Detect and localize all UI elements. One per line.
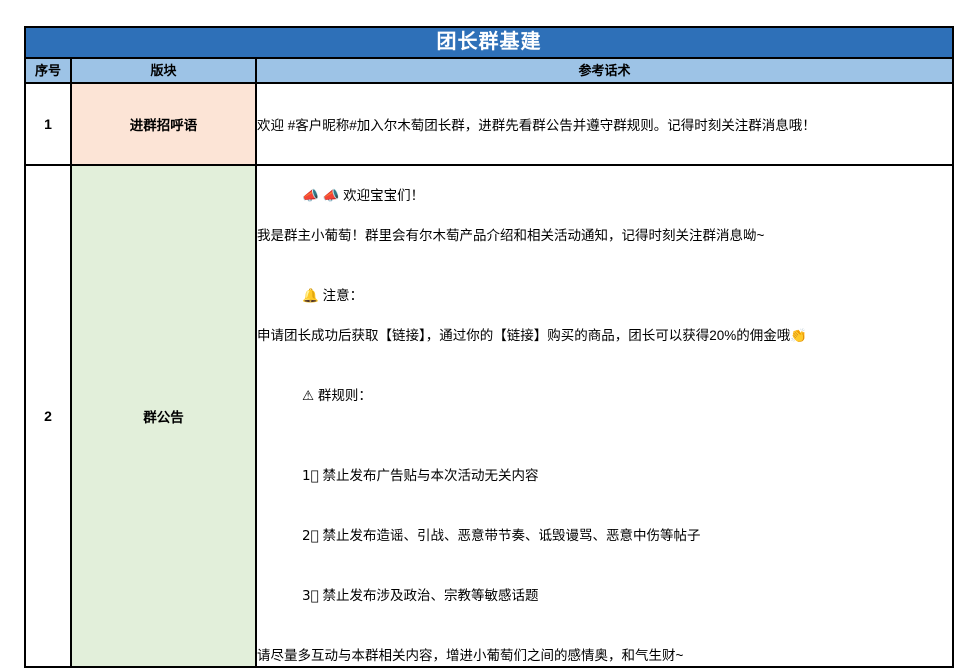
- announcement-intro: 我是群主小葡萄！群里会有尔木萄产品介绍和相关活动通知，记得时刻关注群消息呦~: [257, 226, 952, 246]
- megaphone-icon: 📣: [302, 188, 319, 204]
- column-header-block-label: 版块: [72, 59, 255, 82]
- announcement-greeting-text: 欢迎宝宝们！: [339, 188, 424, 203]
- table-header-row: 序号 版块 参考话术: [25, 58, 953, 83]
- row-1-script-text: 欢迎 #客户昵称#加入尔木萄团长群，进群先看群公告并遵守群规则。记得时刻关注群消…: [257, 116, 952, 136]
- spreadsheet-sheet: 团长群基建 序号 版块 参考话术 1 进群招呼语 欢迎 #客户昵称#加入尔木萄团…: [24, 26, 952, 567]
- megaphone-icon: 📣: [323, 188, 340, 204]
- number-three-icon: 3⃣: [302, 588, 319, 604]
- script-table: 团长群基建 序号 版块 参考话术 1 进群招呼语 欢迎 #客户昵称#加入尔木萄团…: [24, 26, 954, 668]
- row-1-text-cell: 欢迎 #客户昵称#加入尔木萄团长群，进群先看群公告并遵守群规则。记得时刻关注群消…: [256, 83, 953, 165]
- notice-heading-text: 注意：: [319, 288, 363, 303]
- rule-item-2: 2⃣ 禁止发布造谣、引战、恶意带节奏、诋毁谩骂、恶意中伤等帖子: [257, 506, 952, 566]
- notice-body-text-2: 哦: [777, 328, 791, 343]
- rules-heading: ⚠ 群规则：: [257, 366, 952, 426]
- notice-heading: 🔔 注意：: [257, 266, 952, 326]
- table-title-row: 团长群基建: [25, 27, 953, 58]
- bell-icon: 🔔: [302, 288, 319, 304]
- table-title-cell: 团长群基建: [25, 27, 953, 58]
- spacer: [257, 346, 952, 366]
- spacer: [257, 246, 952, 266]
- warning-icon: ⚠: [302, 388, 314, 404]
- column-header-seq: 序号: [25, 58, 71, 83]
- notice-body: 申请团长成功后获取【链接】，通过你的【链接】购买的商品，团长可以获得20%的佣金…: [257, 326, 952, 346]
- spacer: [257, 426, 952, 446]
- rules-heading-text: 群规则：: [314, 388, 372, 403]
- column-header-text-label: 参考话术: [257, 59, 952, 82]
- rule-item-1-text: 禁止发布广告贴与本次活动无关内容: [319, 468, 539, 483]
- rule-item-3-text: 禁止发布涉及政治、宗教等敏感话题: [319, 588, 539, 603]
- rule-item-2-text: 禁止发布造谣、引战、恶意带节奏、诋毁谩骂、恶意中伤等帖子: [319, 528, 701, 543]
- rule-item-1: 1⃣ 禁止发布广告贴与本次活动无关内容: [257, 446, 952, 506]
- row-1-seq: 1: [25, 83, 71, 165]
- number-one-icon: 1⃣: [302, 468, 319, 484]
- announcement-closing: 请尽量多互动与本群相关内容，增进小葡萄们之间的感情奥，和气生财~: [257, 646, 952, 666]
- spacer: [257, 626, 952, 646]
- table-row: 1 进群招呼语 欢迎 #客户昵称#加入尔木萄团长群，进群先看群公告并遵守群规则。…: [25, 83, 953, 165]
- column-header-seq-label: 序号: [26, 59, 70, 82]
- page-title: 团长群基建: [26, 28, 952, 57]
- rule-item-3: 3⃣ 禁止发布涉及政治、宗教等敏感话题: [257, 566, 952, 626]
- number-two-icon: 2⃣: [302, 528, 319, 544]
- row-1-block: 进群招呼语: [71, 83, 256, 165]
- column-header-block: 版块: [71, 58, 256, 83]
- notice-body-text: 申请团长成功后获取【链接】，通过你的【链接】购买的商品，团长可以获得20%的佣金: [257, 328, 777, 343]
- announcement-greeting-line: 📣 📣 欢迎宝宝们！: [257, 166, 952, 226]
- clapping-hands-icon: 👏: [790, 328, 807, 344]
- column-header-text: 参考话术: [256, 58, 953, 83]
